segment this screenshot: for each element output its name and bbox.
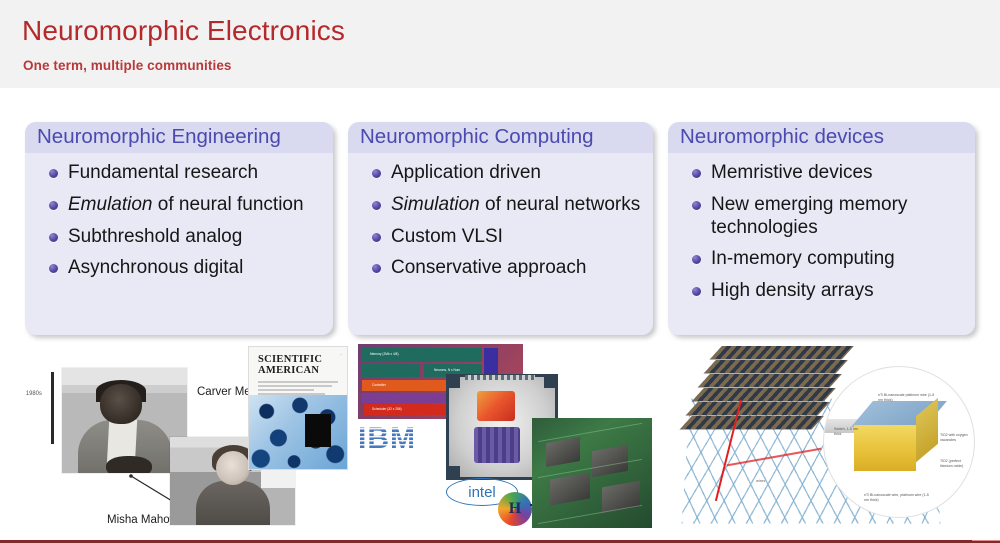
cpu-die-array — [474, 427, 520, 463]
bullet-icon — [49, 233, 58, 242]
bullet-rest: of neural function — [153, 194, 304, 215]
bullet-icon — [49, 264, 58, 273]
pcb-trace — [538, 505, 642, 524]
cpu-corner — [446, 374, 460, 388]
bullet-icon — [372, 169, 381, 178]
card-header: Neuromorphic Computing — [348, 122, 653, 153]
pcb-chip — [592, 445, 628, 477]
callout-label: TiO2 with oxygen vacancies — [940, 433, 970, 443]
bullet-label: Fundamental research — [68, 162, 258, 185]
card-neuromorphic-devices: Neuromorphic devices Memristive devices … — [668, 122, 975, 335]
decade-label: 1980s — [26, 390, 42, 397]
card-title: Neuromorphic devices — [680, 127, 884, 148]
stack-layer — [680, 416, 824, 429]
list-item: Memristive devices — [682, 162, 965, 185]
pcb-chip — [550, 472, 590, 505]
photo-carver-mead — [62, 368, 187, 473]
floorplan-block — [362, 364, 420, 377]
logo-ibm: IBM — [358, 424, 416, 454]
magazine-cover-art — [249, 395, 347, 469]
stack-layer — [686, 402, 830, 415]
magnified-callout: nTi Bi-nanoscale platinum wire (1-5 nm t… — [823, 366, 975, 518]
bullet-label: High density arrays — [711, 280, 874, 303]
cpu-corner — [544, 374, 558, 388]
callout-label: nTi Bi-nanoscale platinum wire (1-5 nm t… — [878, 393, 938, 403]
photo-detail — [216, 451, 250, 485]
memristor-stack — [682, 344, 832, 456]
card-header: Neuromorphic devices — [668, 122, 975, 153]
list-item: Subthreshold analog — [39, 226, 323, 249]
stack-layer — [704, 360, 848, 373]
bullet-icon — [372, 264, 381, 273]
bullet-icon — [49, 169, 58, 178]
list-item: Conservative approach — [362, 257, 643, 280]
magazine-cover-inset — [305, 414, 331, 447]
bullet-emphasis: Emulation — [68, 194, 153, 215]
bullet-label: Subthreshold analog — [68, 226, 242, 249]
floorplan-label: Controller — [372, 383, 386, 387]
figure-neuromorphic-engineering: 1980s Carver Mead Misha Mahowald — [25, 340, 335, 538]
pcb-trace — [538, 423, 642, 442]
photo-detail — [196, 481, 270, 525]
slide-root: Neuromorphic Electronics One term, multi… — [0, 0, 1000, 543]
bullet-rest: of neural networks — [480, 194, 641, 215]
logo-ibm-text: IBM — [358, 424, 416, 454]
crossbar-wire-label: wires — [756, 478, 765, 483]
bullet-label: Conservative approach — [391, 257, 586, 280]
callout-label: Switch, 1-5 nm thick — [834, 427, 858, 437]
stack-layer — [710, 346, 854, 359]
bullet-icon — [372, 233, 381, 242]
decade-bracket — [51, 372, 54, 444]
cpu-die-thermal — [477, 391, 515, 421]
list-item: Emulation of neural function — [39, 194, 323, 217]
card-body: Fundamental research Emulation of neural… — [25, 153, 333, 280]
bullet-icon — [372, 201, 381, 210]
photo-circuit-board — [532, 418, 652, 528]
bullet-label: Memristive devices — [711, 162, 873, 185]
bullet-label: Emulation of neural function — [68, 194, 304, 217]
list-item: Custom VLSI — [362, 226, 643, 249]
list-item: Application driven — [362, 162, 643, 185]
cpu-pads — [465, 375, 535, 380]
cpu-corner — [446, 466, 460, 480]
callout-label: TiO2 (perfect titanium oxide) — [940, 459, 970, 469]
callout-device-stack — [854, 419, 926, 471]
magazine-coverlines — [258, 381, 338, 395]
logo-hp: H — [498, 492, 532, 526]
figure-neuromorphic-devices: wires nTi Bi-nanoscale platinum wire (1-… — [668, 340, 978, 538]
list-item: Fundamental research — [39, 162, 323, 185]
bullet-label: Application driven — [391, 162, 541, 185]
list-item: Simulation of neural networks — [362, 194, 643, 217]
pcb-chip — [546, 437, 580, 467]
floorplan-label: Neurons, N x Num — [434, 368, 460, 372]
floorplan-label: Memory (2Mb x 4/8) — [370, 352, 399, 356]
bullet-emphasis: Simulation — [391, 194, 480, 215]
bullet-label: Custom VLSI — [391, 226, 503, 249]
magazine-masthead: SCIENTIFIC AMERICAN — [258, 354, 338, 376]
page-subtitle: One term, multiple communities — [23, 58, 232, 73]
list-item: New emerging memory technologies — [682, 194, 965, 240]
bullet-icon — [692, 201, 701, 210]
callout-label: nTi Bi-nanoscale wire, platinum wire (1-… — [864, 493, 932, 503]
magazine-cover-scientific-american: ~ SCIENTIFIC AMERICAN — [248, 346, 348, 470]
floorplan-label: Scheduler (32 x 256) — [372, 407, 402, 411]
bullet-icon — [692, 169, 701, 178]
figure-neuromorphic-computing: Memory (2Mb x 4/8) Neurons, N x Num Cont… — [350, 340, 655, 538]
bullet-label: New emerging memory technologies — [711, 194, 961, 240]
page-title: Neuromorphic Electronics — [22, 15, 345, 47]
stack-layer — [692, 388, 836, 401]
card-title: Neuromorphic Engineering — [37, 127, 281, 148]
logo-ibm-stripes — [358, 424, 416, 454]
bullet-icon — [49, 201, 58, 210]
card-neuromorphic-engineering: Neuromorphic Engineering Fundamental res… — [25, 122, 333, 335]
bullet-icon — [692, 255, 701, 264]
card-neuromorphic-computing: Neuromorphic Computing Application drive… — [348, 122, 653, 335]
stack-layer — [698, 374, 842, 387]
bullet-label: Simulation of neural networks — [391, 194, 640, 217]
bullet-icon — [692, 287, 701, 296]
slide-bottom-rule-accent — [972, 540, 1000, 541]
bullet-label: Asynchronous digital — [68, 257, 243, 280]
magazine-corner-mark: ~ — [340, 352, 342, 357]
card-body: Application driven Simulation of neural … — [348, 153, 653, 280]
figure-strip: 1980s Carver Mead Misha Mahowald — [0, 340, 1000, 538]
list-item: High density arrays — [682, 280, 965, 303]
bullet-label: In-memory computing — [711, 248, 895, 271]
card-body: Memristive devices New emerging memory t… — [668, 153, 975, 303]
callout-oxide-layer — [854, 425, 916, 471]
card-title: Neuromorphic Computing — [360, 127, 594, 148]
card-header: Neuromorphic Engineering — [25, 122, 333, 153]
list-item: In-memory computing — [682, 248, 965, 271]
list-item: Asynchronous digital — [39, 257, 323, 280]
photo-detail — [100, 384, 142, 424]
